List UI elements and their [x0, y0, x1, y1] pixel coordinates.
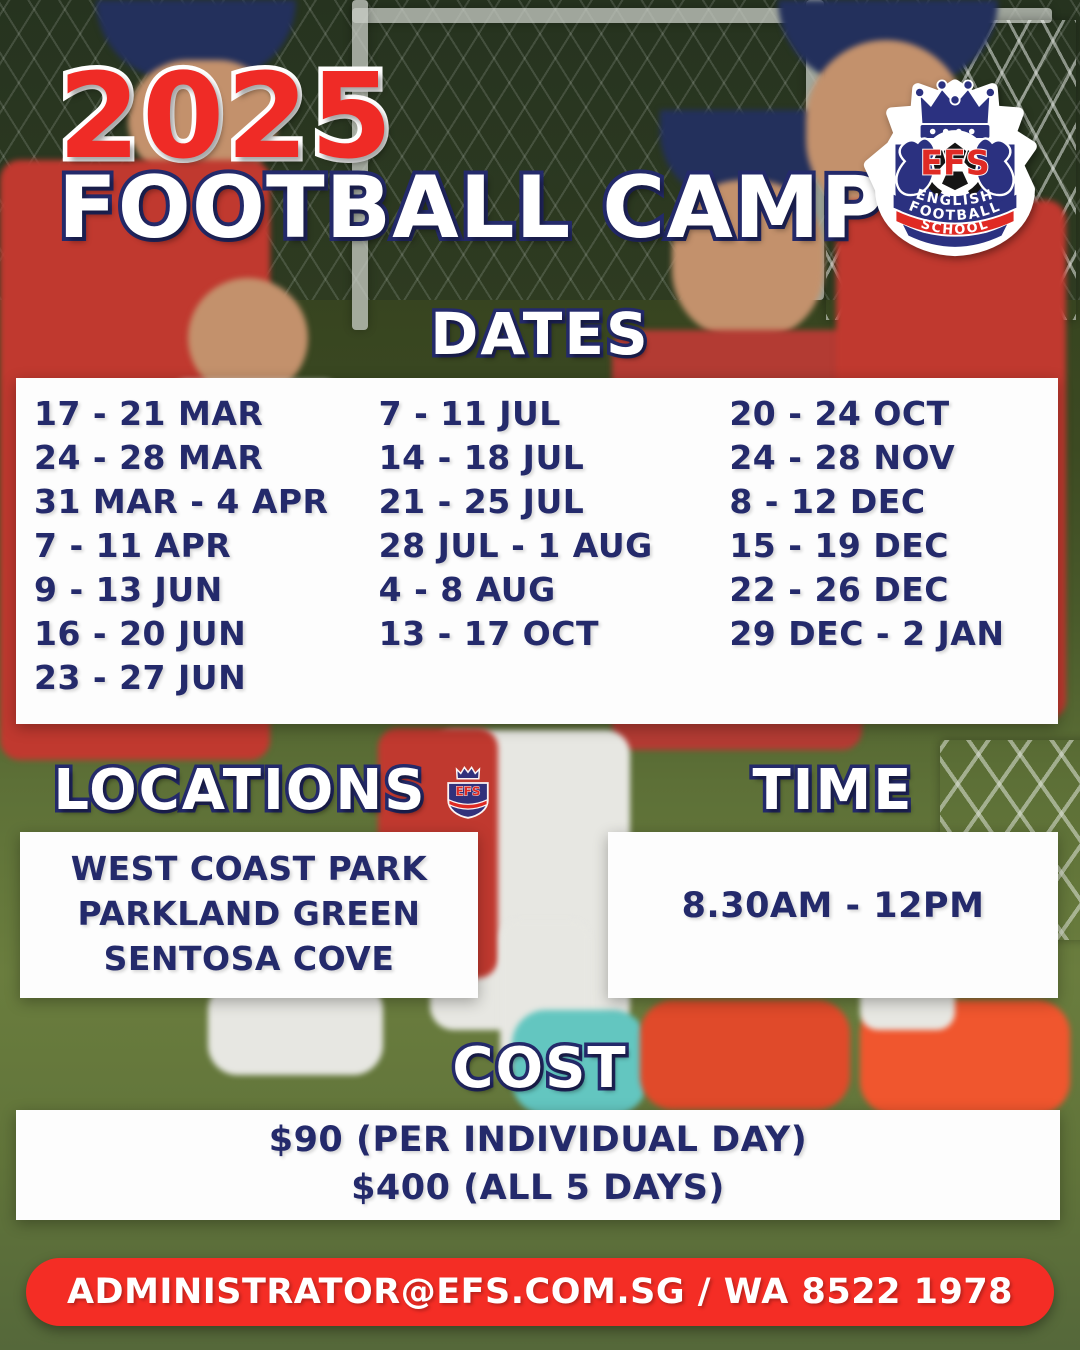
- location-item: WEST COAST PARK: [20, 846, 478, 891]
- dates-heading: DATES: [0, 300, 1080, 368]
- dates-column-2: 7 - 11 JUL 14 - 18 JUL 21 - 25 JUL 28 JU…: [363, 392, 708, 724]
- time-panel: 8.30AM - 12PM: [608, 832, 1058, 998]
- poster-year: 2025: [58, 62, 885, 171]
- date-item: 7 - 11 APR: [34, 524, 363, 568]
- efs-logo: EFS ENGLISH FOOTBALL SCHOOL: [862, 72, 1048, 258]
- date-item: 16 - 20 JUN: [34, 612, 363, 656]
- poster-canvas: 2025 FOOTBALL CAMP: [0, 0, 1080, 1350]
- date-item: 9 - 13 JUN: [34, 568, 363, 612]
- date-item: 15 - 19 DEC: [729, 524, 1058, 568]
- poster-title-block: 2025 FOOTBALL CAMP: [58, 62, 885, 251]
- date-item: 22 - 26 DEC: [729, 568, 1058, 612]
- contact-bar[interactable]: ADMINISTRATOR@EFS.COM.SG / WA 8522 1978: [26, 1258, 1054, 1326]
- location-item: PARKLAND GREEN: [20, 891, 478, 936]
- date-item: 28 JUL - 1 AUG: [379, 524, 708, 568]
- date-item: 7 - 11 JUL: [379, 392, 708, 436]
- locations-panel: WEST COAST PARK PARKLAND GREEN SENTOSA C…: [20, 832, 478, 998]
- date-item: 31 MAR - 4 APR: [34, 480, 363, 524]
- date-item: 21 - 25 JUL: [379, 480, 708, 524]
- contact-text: ADMINISTRATOR@EFS.COM.SG / WA 8522 1978: [67, 1272, 1013, 1312]
- date-item: 14 - 18 JUL: [379, 436, 708, 480]
- date-item: 24 - 28 MAR: [34, 436, 363, 480]
- cost-panel: $90 (PER INDIVIDUAL DAY) $400 (ALL 5 DAY…: [16, 1110, 1060, 1220]
- location-item: SENTOSA COVE: [20, 936, 478, 981]
- date-item: 23 - 27 JUN: [34, 656, 363, 700]
- date-item: 29 DEC - 2 JAN: [729, 612, 1058, 656]
- date-item: 17 - 21 MAR: [34, 392, 363, 436]
- poster-title: FOOTBALL CAMP: [58, 165, 885, 251]
- dates-column-1: 17 - 21 MAR 24 - 28 MAR 31 MAR - 4 APR 7…: [16, 392, 363, 724]
- dates-column-3: 20 - 24 OCT 24 - 28 NOV 8 - 12 DEC 15 - …: [707, 392, 1058, 724]
- date-item: 24 - 28 NOV: [729, 436, 1058, 480]
- cost-line: $400 (ALL 5 DAYS): [16, 1164, 1060, 1212]
- time-heading: TIME: [608, 758, 1058, 823]
- date-item: 20 - 24 OCT: [729, 392, 1058, 436]
- locations-heading: LOCATIONS: [20, 758, 460, 823]
- cost-heading: COST: [0, 1036, 1080, 1101]
- cost-line: $90 (PER INDIVIDUAL DAY): [16, 1116, 1060, 1164]
- svg-text:EFS: EFS: [920, 143, 990, 182]
- date-item: 8 - 12 DEC: [729, 480, 1058, 524]
- date-item: 13 - 17 OCT: [379, 612, 708, 656]
- dates-panel: 17 - 21 MAR 24 - 28 MAR 31 MAR - 4 APR 7…: [16, 378, 1058, 724]
- time-value: 8.30AM - 12PM: [608, 884, 1058, 929]
- date-item: 4 - 8 AUG: [379, 568, 708, 612]
